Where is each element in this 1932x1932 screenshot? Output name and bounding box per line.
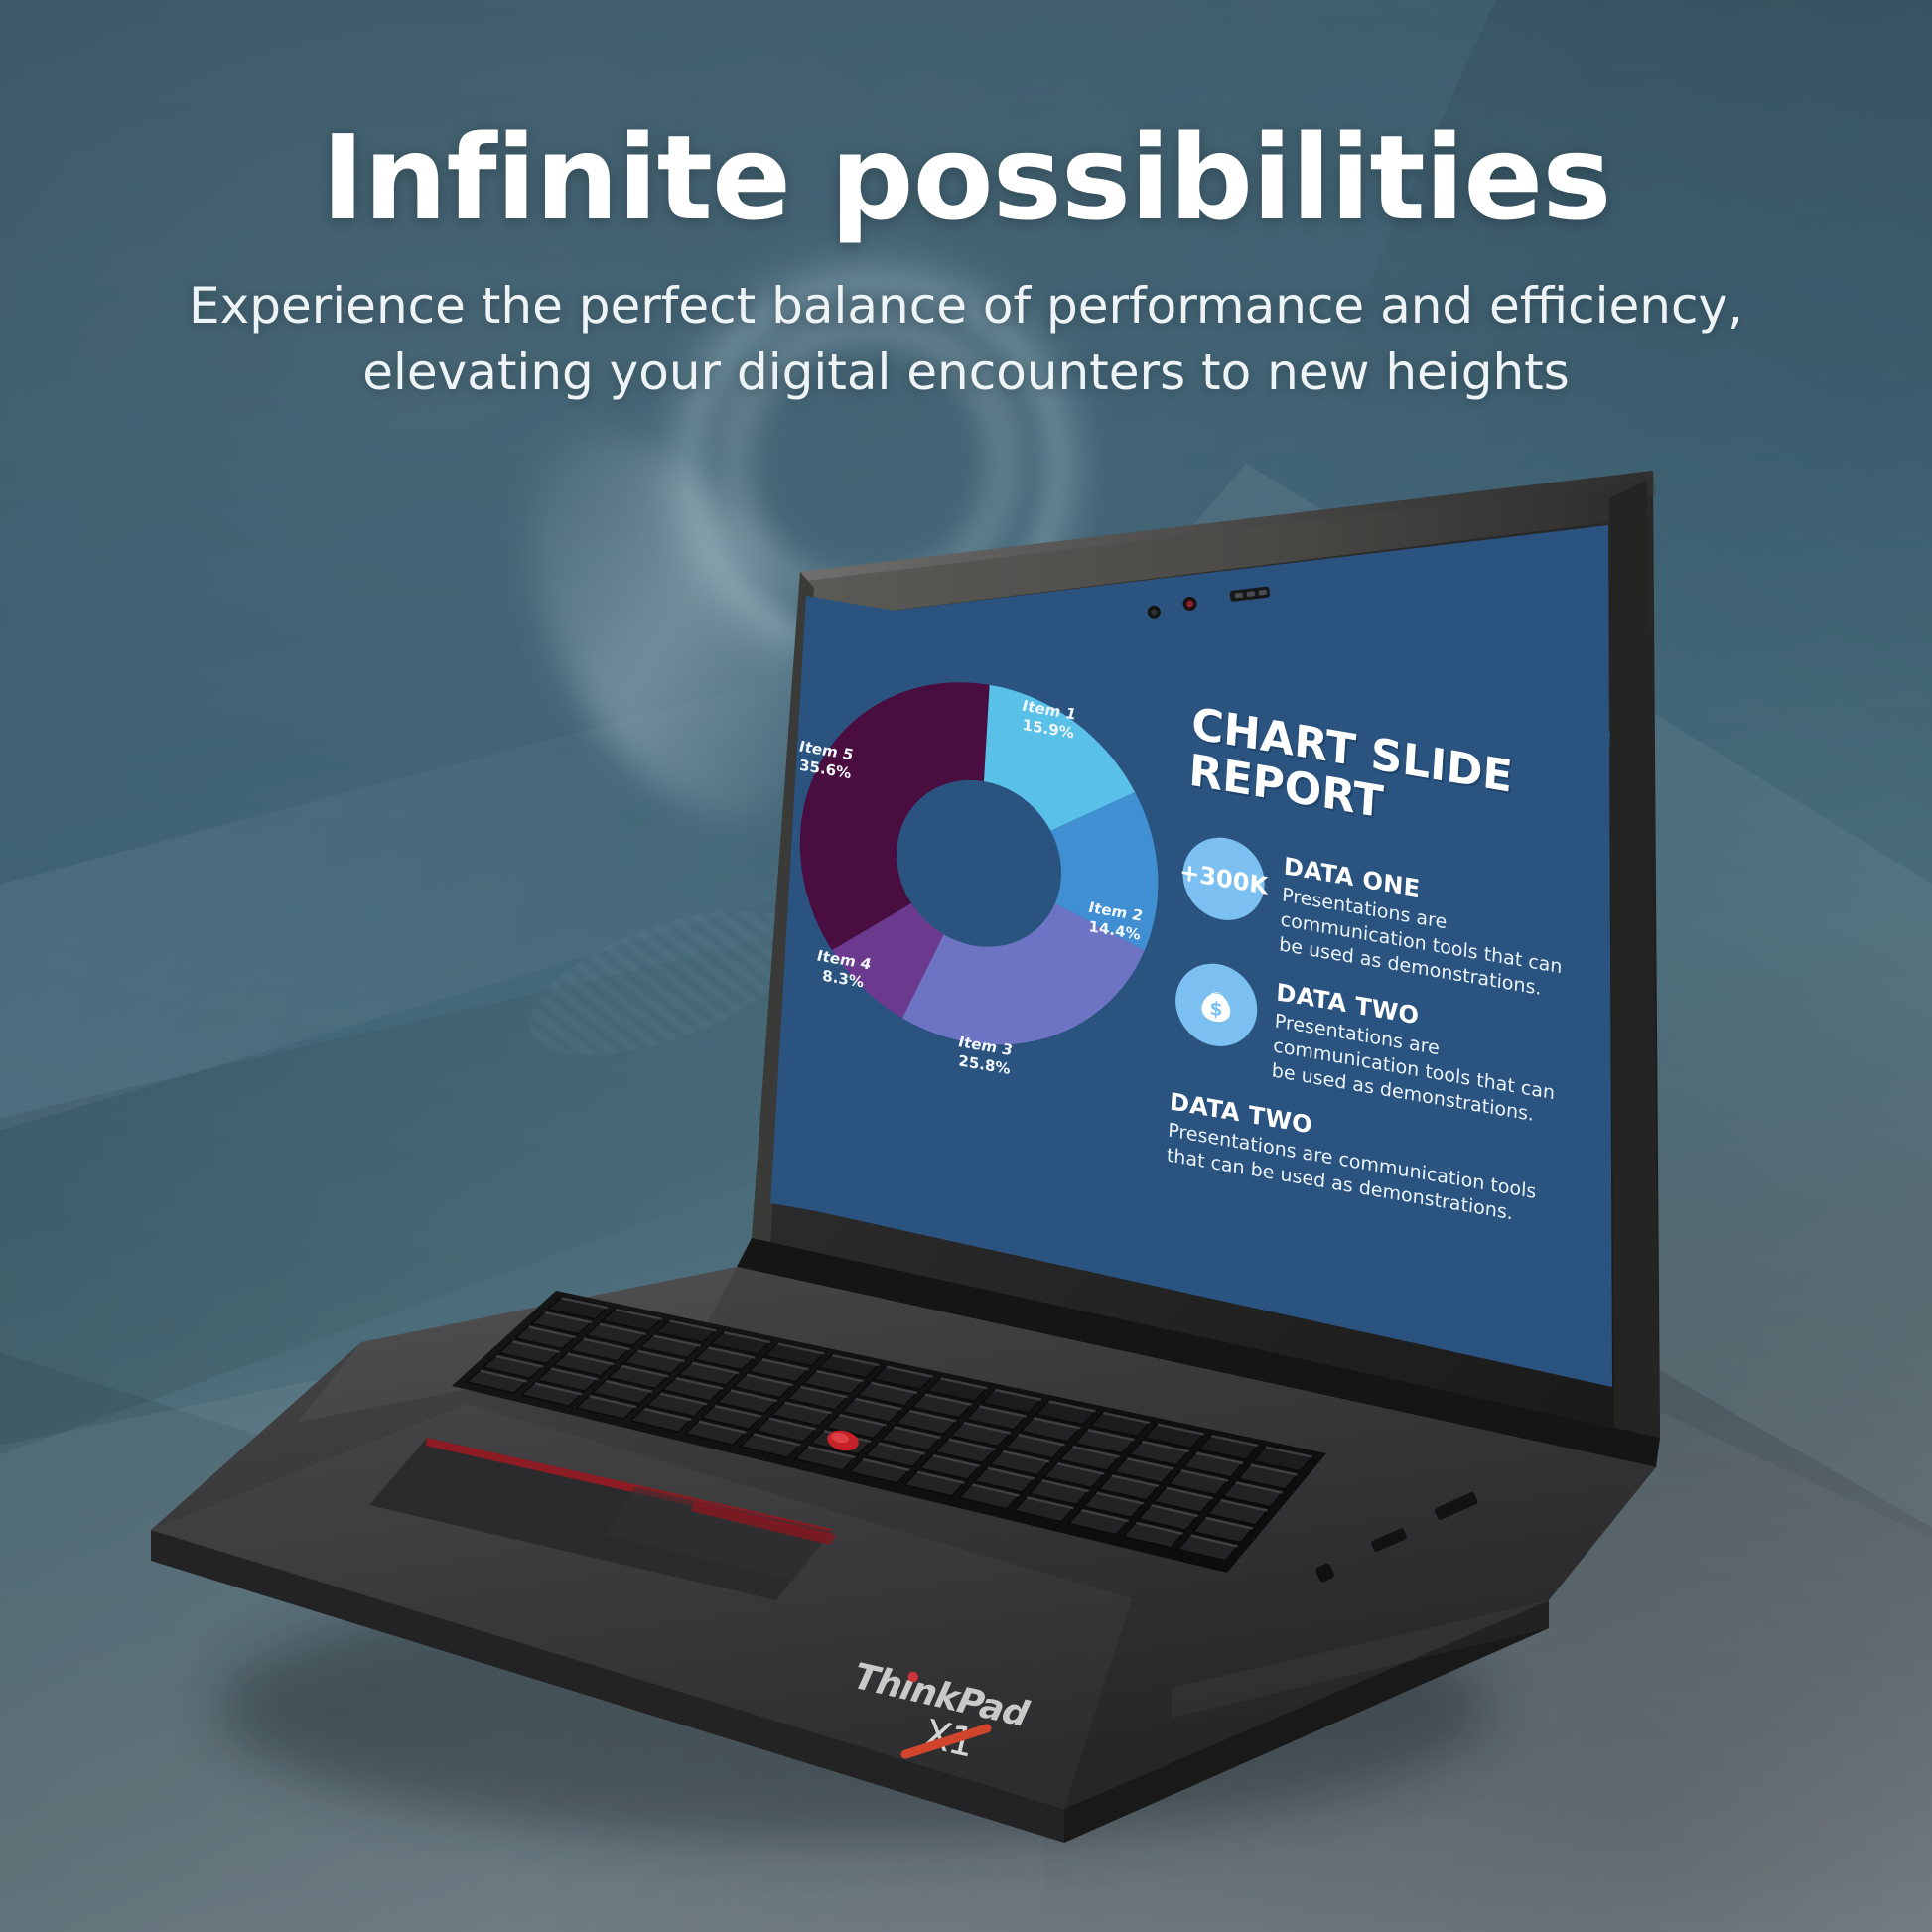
page-subtitle-line-2: elevating your digital encounters to new… [0, 340, 1932, 406]
donut-chart: Item 115.9% Item 214.4% Item 325.8% Item… [790, 654, 1169, 1072]
money-bag-badge: $ [1173, 958, 1260, 1053]
money-bag-icon: $ [1192, 979, 1241, 1033]
badge-label: +300K [1178, 858, 1268, 900]
page-subtitle-line-1: Experience the perfect balance of perfor… [0, 273, 1932, 340]
poster-canvas: Infinite possibilities Experience the pe… [0, 0, 1932, 1932]
donut-chart-svg [790, 654, 1169, 1072]
slide-title: CHART SLIDE REPORT [1187, 701, 1589, 861]
plus-300k-badge: +300K [1180, 832, 1267, 927]
hero-text-block: Infinite possibilities Experience the pe… [0, 117, 1932, 406]
svg-text:$: $ [1209, 999, 1223, 1022]
chart-label-item-3: Item 325.8% [957, 1033, 1013, 1079]
slide-right-panel: CHART SLIDE REPORT +300K DATA ONE Presen… [1165, 701, 1590, 1252]
page-subtitle: Experience the perfect balance of perfor… [0, 273, 1932, 406]
page-title: Infinite possibilities [0, 117, 1932, 239]
